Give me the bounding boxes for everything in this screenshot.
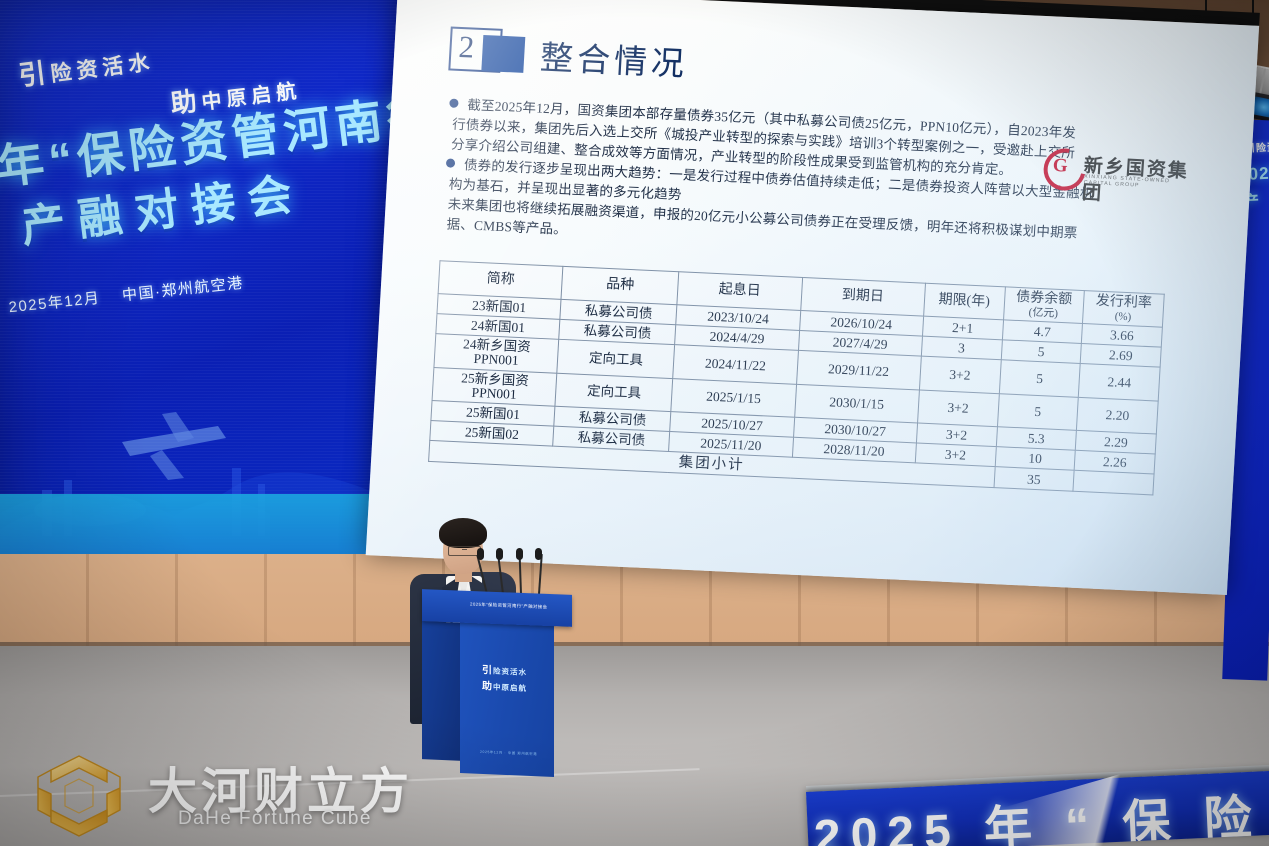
hair xyxy=(439,518,487,548)
microphone-head-icon xyxy=(496,548,503,560)
table-header-cell: 品种 xyxy=(561,266,679,304)
table-summary-rate xyxy=(1073,470,1154,495)
company-logo: G 新乡国资集团 XINXIANG STATE-OWNED CAPITAL GR… xyxy=(1043,145,1195,193)
table-cell: 2029/11/22 xyxy=(796,351,921,390)
slide-number-square xyxy=(481,35,525,73)
slide-section-number: 2 xyxy=(458,29,476,66)
table-cell: 3+2 xyxy=(919,356,1001,393)
table-cell: 2030/1/15 xyxy=(794,384,919,423)
microphone-head-icon xyxy=(477,548,484,560)
conference-photo-scene: 引险资活水 助中原启航 5年“保险资管河南行” 产融对接会 2025年12月中国… xyxy=(0,0,1269,846)
table-header-cell: 债券余额(亿元) xyxy=(1003,287,1085,324)
bullet-marker xyxy=(446,158,456,167)
table-header-cell: 发行利率(%) xyxy=(1083,291,1165,328)
slide-body-line: 据、CMBS等产品。 xyxy=(446,213,568,239)
lectern-slogan-1: 引险资活水 xyxy=(482,661,527,678)
table-cell: 5 xyxy=(997,393,1079,430)
table-cell: 2025/1/15 xyxy=(671,378,796,417)
table-cell: 2024/11/22 xyxy=(673,345,798,384)
bullet-marker xyxy=(449,99,459,108)
table-header-cell: 期限(年) xyxy=(923,283,1005,320)
microphone-head-icon xyxy=(516,548,523,560)
slide-title: 整合情况 xyxy=(539,31,690,86)
lectern-side-panel xyxy=(422,621,462,761)
left-led-banner: 引险资活水 助中原启航 5年“保险资管河南行” 产融对接会 2025年12月中国… xyxy=(0,0,422,554)
watermark: 大河财立方 DaHe Fortune Cube xyxy=(18,748,418,844)
microphone-head-icon xyxy=(535,548,542,560)
table-summary-amount: 35 xyxy=(994,467,1075,492)
led-lower-band xyxy=(0,494,422,554)
bond-table: 简称品种起息日到期日期限(年)债券余额(亿元)发行利率(%) 23新国01私募公… xyxy=(428,260,1165,496)
lectern: 2025年“保险资管河南行”产融对接会 引险资活水 助中原启航 2025年12月… xyxy=(424,592,570,777)
projection-screen: 2 整合情况 截至2025年12月，国资集团本部存量债券35亿元（其中私募公司债… xyxy=(366,0,1259,595)
table-cell: 3+2 xyxy=(917,390,999,427)
table-cell: 定向工具 xyxy=(555,373,673,412)
lectern-slogan-2: 助中原启航 xyxy=(482,677,527,694)
company-logo-letter: G xyxy=(1052,155,1068,178)
watermark-name-en: DaHe Fortune Cube xyxy=(178,808,372,830)
table-cell: 25新乡国资PPN001 xyxy=(432,367,557,406)
table-cell: 5 xyxy=(999,360,1081,397)
table-cell: 24新乡国资PPN001 xyxy=(434,334,559,373)
table-cell: 2.20 xyxy=(1077,397,1159,434)
cube-logo-icon xyxy=(24,750,134,842)
slide-surface: 2 整合情况 截至2025年12月，国资集团本部存量债券35亿元（其中私募公司债… xyxy=(366,0,1259,595)
table-cell: 定向工具 xyxy=(557,340,675,379)
table-cell: 2.44 xyxy=(1079,364,1161,401)
